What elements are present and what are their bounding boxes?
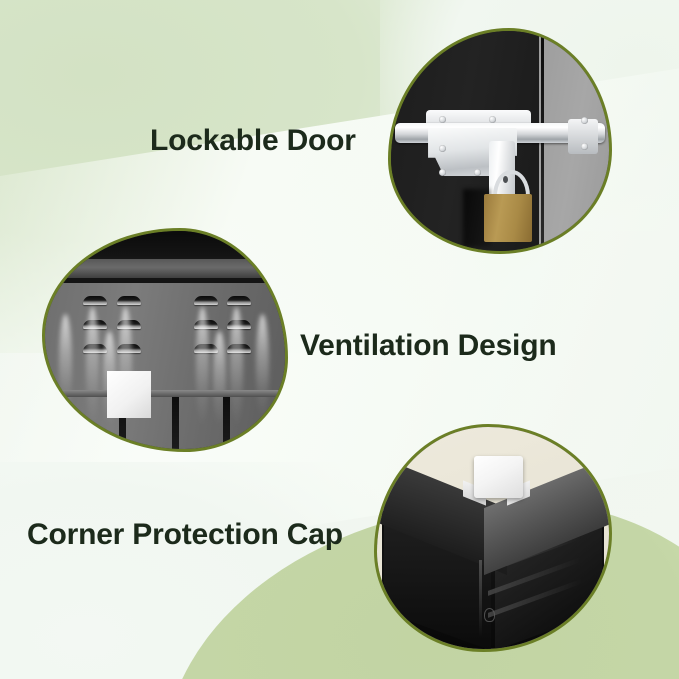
- blob-frame-ventilation-design: [42, 228, 288, 452]
- blob-frame-corner-protection-cap: [374, 424, 612, 652]
- photo-corner-protection-cap: [377, 427, 609, 649]
- airflow-streak: [230, 307, 243, 427]
- screw-icon: [439, 169, 446, 176]
- feature-image-corner-protection-cap: [374, 424, 612, 652]
- vent-slot: [117, 296, 141, 305]
- vent-slot: [227, 296, 251, 305]
- feature-image-ventilation-design: [42, 228, 288, 452]
- feature-label-corner-protection-cap: Corner Protection Cap: [27, 520, 343, 550]
- white-panel-insert: [107, 371, 150, 419]
- photo-ventilation-design: [45, 231, 285, 449]
- cabinet-body-panel: [45, 281, 285, 449]
- screw-icon: [439, 116, 446, 123]
- screw-icon: [581, 117, 588, 124]
- cabinet-top-lip: [45, 259, 285, 279]
- vent-slot: [194, 296, 218, 305]
- screw-icon: [581, 143, 588, 150]
- corner-protection-cap: [474, 456, 523, 498]
- cabinet-latch-mark: [484, 608, 495, 622]
- screw-icon: [474, 169, 481, 176]
- feature-label-lockable-door: Lockable Door: [150, 126, 356, 156]
- photo-lockable-door: [391, 31, 609, 251]
- cabinet-compartment-divider: [223, 397, 230, 449]
- feature-image-lockable-door: [388, 28, 612, 254]
- blob-frame-lockable-door: [388, 28, 612, 254]
- airflow-streak: [86, 307, 99, 427]
- product-feature-infographic: Lockable Door: [0, 0, 679, 679]
- feature-label-ventilation-design: Ventilation Design: [300, 331, 556, 361]
- padlock-body: [484, 194, 532, 242]
- cabinet-front-vertical-edge: [479, 560, 482, 635]
- cabinet-lip-shadow-line: [45, 278, 285, 283]
- vent-slot: [83, 296, 107, 305]
- cabinet-lower-shelf-edge: [45, 390, 285, 397]
- cabinet-compartment-divider: [172, 397, 179, 449]
- screw-icon: [489, 116, 496, 123]
